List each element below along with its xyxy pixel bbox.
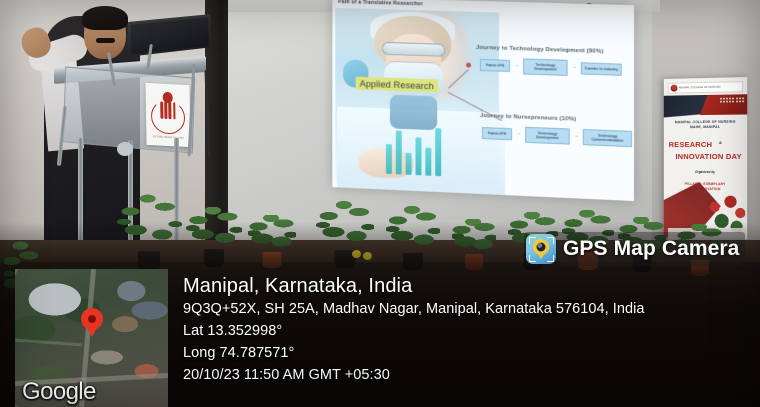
gps-city-line: Manipal, Karnataka, India xyxy=(183,274,753,298)
gps-address-line: 9Q3Q+52X, SH 25A, Madhav Nagar, Manipal,… xyxy=(183,298,753,320)
banner-title-innovation-day: INNOVATION DAY xyxy=(675,152,741,161)
banner-title-research: RESEARCH xyxy=(669,140,713,149)
journey-flow-1: Patent /IPR → Technology Development → T… xyxy=(480,57,622,78)
podium-hub xyxy=(117,142,133,156)
viewfinder-corner-icon xyxy=(529,255,536,262)
camera-lens-icon xyxy=(537,243,546,252)
gps-info-block: Manipal, Karnataka, India 9Q3Q+52X, SH 2… xyxy=(183,274,753,387)
college-logo-icon xyxy=(670,85,677,92)
banner-dot-pattern xyxy=(720,97,745,103)
gps-latitude: Lat 13.352998° xyxy=(183,320,753,342)
map-road xyxy=(15,338,82,346)
arrow-icon: → xyxy=(514,63,519,68)
podium-leg xyxy=(78,138,83,246)
potted-plant xyxy=(186,205,242,267)
gps-map-camera-icon xyxy=(526,234,556,264)
banner-logo-row: MANIPAL COLLEGE OF NURSING xyxy=(668,81,743,94)
flow-step: Technology Commercialization xyxy=(583,129,632,147)
potted-plant xyxy=(386,204,440,270)
speaker-moustache xyxy=(96,38,115,43)
gps-map-camera-photo: Path of a Translative Researcher Applied… xyxy=(0,0,760,407)
banner-logo-text: MANIPAL COLLEGE OF NURSING xyxy=(679,86,721,90)
presentation-slide: Path of a Translative Researcher Applied… xyxy=(332,0,634,201)
arrow-icon: → xyxy=(572,65,577,70)
arrow-icon: → xyxy=(574,134,579,139)
flow-step: Transfer to Industry xyxy=(581,62,622,75)
flow-step: Patent /IPR xyxy=(480,59,510,71)
hologram-chart xyxy=(382,120,451,177)
gps-timestamp: 20/10/23 11:50 AM GMT +05:30 xyxy=(183,364,753,386)
map-pin-icon xyxy=(533,239,549,255)
marigold-flower xyxy=(352,250,361,258)
potted-plant xyxy=(452,216,496,270)
gps-map-camera-badge: GPS Map Camera xyxy=(524,232,745,266)
podium-emblem-sign: ESTABLISHED IN 1942 xyxy=(145,83,190,147)
map-pin-center-dot xyxy=(88,315,96,323)
viewfinder-corner-icon xyxy=(547,255,554,262)
arrow-icon: → xyxy=(516,132,521,137)
banner-ampersand: & xyxy=(719,140,722,145)
google-watermark: Google xyxy=(22,378,96,406)
gps-app-name: GPS Map Camera xyxy=(563,237,739,261)
gps-longitude: Long 74.787571° xyxy=(183,342,753,364)
podium-sign-caption: ESTABLISHED IN 1942 xyxy=(146,135,190,140)
flow-step: Technology Development xyxy=(525,127,570,145)
slide-stock-photo xyxy=(335,8,499,191)
speaker-hair xyxy=(82,6,128,30)
map-location-pin xyxy=(81,308,103,330)
slide-title: Path of a Translative Researcher xyxy=(338,0,423,7)
flow-step: Patent /IPR xyxy=(482,127,512,140)
marigold-flower xyxy=(363,252,372,260)
potted-plant xyxy=(116,192,182,270)
event-banner: MANIPAL COLLEGE OF NURSING MANIPAL COLLE… xyxy=(664,77,747,239)
map-thumbnail[interactable]: Google xyxy=(15,269,168,407)
banner-organized-by: Organized by xyxy=(664,170,747,174)
flow-step: Technology Development xyxy=(523,58,567,75)
laptop-screen xyxy=(130,17,208,54)
banner-college-name: MANIPAL COLLEGE OF NURSING MAHE, MANIPAL xyxy=(664,120,747,131)
potted-plant xyxy=(248,212,296,268)
laurel-wreath-icon xyxy=(151,99,186,135)
leader-dot xyxy=(466,63,471,68)
safety-goggles xyxy=(382,42,445,57)
